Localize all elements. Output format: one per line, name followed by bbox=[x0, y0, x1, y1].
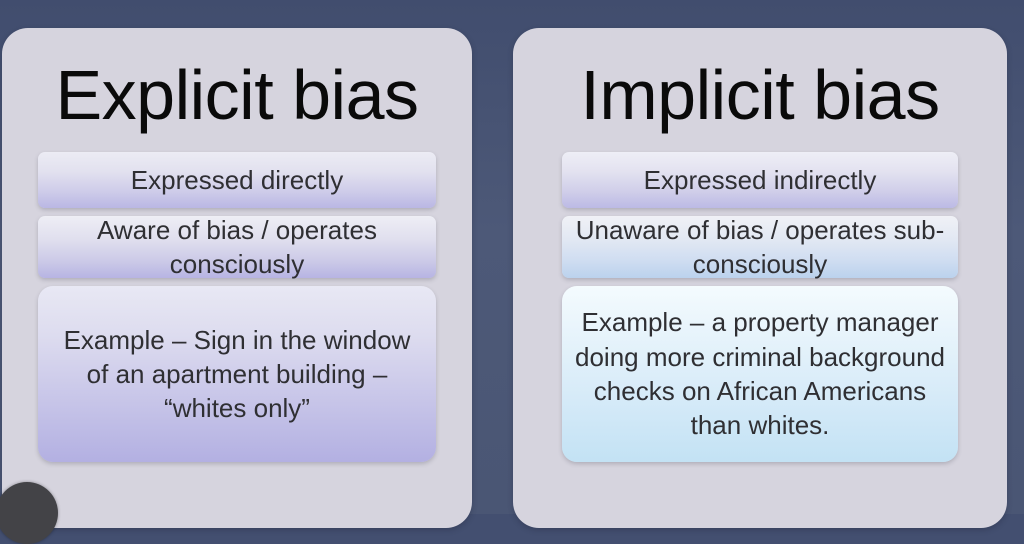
explicit-box-expressed-text: Expressed directly bbox=[129, 163, 345, 197]
explicit-box-expressed: Expressed directly bbox=[38, 152, 436, 208]
explicit-box-list: Expressed directly Aware of bias / opera… bbox=[2, 152, 472, 462]
explicit-box-example: Example – Sign in the window of an apart… bbox=[38, 286, 436, 462]
implicit-box-list: Expressed indirectly Unaware of bias / o… bbox=[513, 152, 1007, 462]
implicit-box-example: Example – a property manager doing more … bbox=[562, 286, 958, 462]
slide-canvas: Explicit bias Expressed directly Aware o… bbox=[0, 0, 1024, 514]
panel-title-explicit: Explicit bias bbox=[2, 28, 472, 130]
implicit-box-expressed: Expressed indirectly bbox=[562, 152, 958, 208]
implicit-box-awareness: Unaware of bias / operates sub-conscious… bbox=[562, 216, 958, 278]
panel-title-implicit: Implicit bias bbox=[513, 28, 1007, 130]
implicit-box-example-text: Example – a property manager doing more … bbox=[570, 305, 950, 442]
implicit-box-expressed-text: Expressed indirectly bbox=[642, 163, 879, 197]
implicit-box-awareness-text: Unaware of bias / operates sub-conscious… bbox=[566, 213, 954, 282]
panel-explicit-bias: Explicit bias Expressed directly Aware o… bbox=[2, 28, 472, 528]
panel-implicit-bias: Implicit bias Expressed indirectly Unawa… bbox=[513, 28, 1007, 528]
explicit-box-awareness: Aware of bias / operates consciously bbox=[38, 216, 436, 278]
corner-circle-overlay bbox=[0, 482, 58, 544]
explicit-box-example-text: Example – Sign in the window of an apart… bbox=[48, 323, 426, 426]
explicit-box-awareness-text: Aware of bias / operates consciously bbox=[44, 213, 430, 282]
